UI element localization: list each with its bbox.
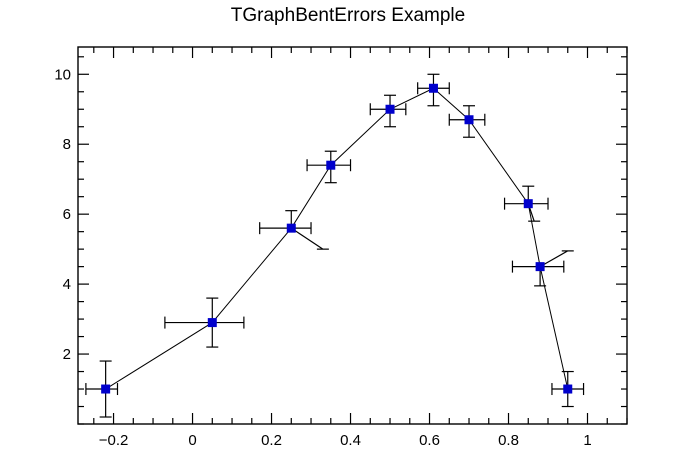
data-point-marker: [386, 105, 395, 114]
y-tick-label: 4: [63, 276, 71, 293]
y-tick-label: 2: [63, 346, 71, 363]
data-point-marker: [563, 385, 572, 394]
x-axis-tick-labels: −0.200.20.40.60.81: [99, 432, 592, 449]
data-point-marker: [524, 199, 533, 208]
data-point-marker: [465, 115, 474, 124]
data-point-marker: [536, 262, 545, 271]
axis-frame: [78, 47, 627, 424]
plot-area: −0.200.20.40.60.81 246810: [0, 0, 696, 472]
x-tick-label: 0: [188, 432, 196, 449]
series-polyline: [106, 88, 568, 389]
data-markers: [101, 84, 572, 394]
x-tick-label: 1: [583, 432, 591, 449]
x-tick-label: −0.2: [99, 432, 129, 449]
data-point-marker: [208, 318, 217, 327]
data-point-marker: [326, 161, 335, 170]
x-tick-label: 0.6: [419, 432, 440, 449]
root-canvas: TGraphBentErrors Example −0.200.20.40.60…: [0, 0, 696, 472]
x-axis-ticks: [94, 47, 627, 424]
y-axis-tick-labels: 246810: [54, 66, 71, 363]
x-tick-label: 0.8: [498, 432, 519, 449]
error-bars: [86, 74, 584, 417]
data-point-marker: [287, 224, 296, 233]
data-point-marker: [101, 385, 110, 394]
y-tick-label: 8: [63, 136, 71, 153]
y-tick-label: 6: [63, 206, 71, 223]
x-tick-label: 0.4: [340, 432, 361, 449]
x-tick-label: 0.2: [261, 432, 282, 449]
y-tick-label: 10: [54, 66, 71, 83]
data-point-marker: [429, 84, 438, 93]
y-axis-ticks: [78, 57, 627, 424]
